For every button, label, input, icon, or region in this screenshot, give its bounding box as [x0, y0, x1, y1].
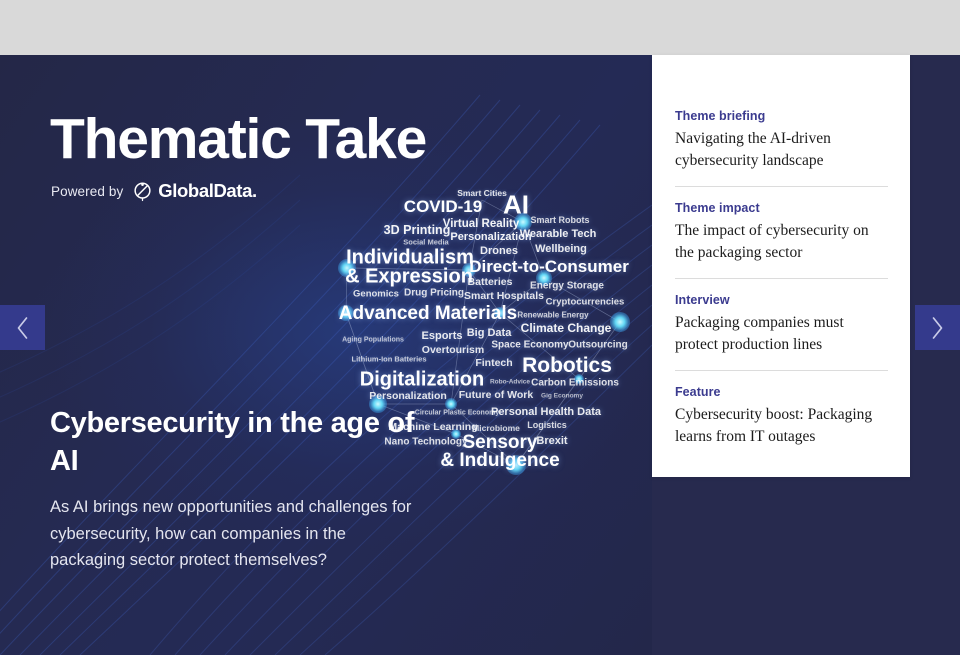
- powered-by-row: Powered by GlobalData.: [51, 180, 257, 202]
- article-entry[interactable]: Theme impactThe impact of cybersecurity …: [675, 186, 888, 278]
- word-cloud-term: Batteries: [468, 276, 513, 288]
- article-title-link[interactable]: The impact of cybersecurity on the packa…: [675, 220, 888, 265]
- word-cloud-term: Aging Populations: [342, 337, 404, 344]
- globaldata-circle-logo-icon: [132, 181, 153, 202]
- word-cloud-term: Personalization: [369, 390, 447, 402]
- word-cloud-term: Genomics: [353, 289, 399, 300]
- top-margin-strip: [0, 0, 960, 55]
- word-cloud-term: COVID-19: [404, 197, 482, 217]
- word-cloud-term: Social Media: [403, 238, 448, 247]
- powered-by-label: Powered by: [51, 184, 123, 199]
- article-list: Theme briefingNavigating the AI-driven c…: [652, 55, 910, 462]
- word-cloud-term: Wellbeing: [535, 243, 587, 255]
- word-cloud-term: Drones: [480, 245, 518, 257]
- word-cloud-term: Big Data: [467, 327, 512, 339]
- word-cloud-term: Fintech: [475, 357, 512, 369]
- word-cloud-term: Drug Pricing: [404, 288, 464, 299]
- word-cloud-term: Gig Economy: [541, 393, 583, 400]
- word-cloud-term: Robotics: [522, 354, 612, 378]
- article-title-link[interactable]: Navigating the AI-driven cybersecurity l…: [675, 128, 888, 173]
- word-cloud-term: Cryptocurrencies: [546, 297, 625, 308]
- article-list-card: Theme briefingNavigating the AI-driven c…: [652, 55, 910, 477]
- word-cloud-term: Carbon Emissions: [531, 378, 619, 389]
- globaldata-wordmark: GlobalData.: [158, 180, 256, 202]
- article-category-label: Interview: [675, 293, 888, 307]
- word-cloud-term: Virtual Reality: [443, 218, 520, 230]
- slide-stage: Thematic Take Powered by GlobalData.: [0, 0, 960, 655]
- word-cloud-term: Smart Robots: [530, 215, 589, 225]
- word-cloud-term: Personal Health Data: [491, 406, 601, 418]
- word-cloud-term: Robo-Advice: [490, 379, 530, 386]
- word-cloud-node: [610, 312, 630, 332]
- chevron-left-icon: [14, 315, 31, 341]
- word-cloud-term: Wearable Tech: [520, 228, 597, 240]
- article-entry[interactable]: Theme briefingNavigating the AI-driven c…: [675, 109, 888, 186]
- word-cloud-term: Renewable Energy: [517, 311, 588, 320]
- chevron-right-icon: [929, 315, 946, 341]
- article-category-label: Feature: [675, 385, 888, 399]
- article-entry[interactable]: InterviewPackaging companies must protec…: [675, 278, 888, 370]
- next-slide-button[interactable]: [915, 305, 960, 350]
- hero-headline: Cybersecurity in the age of AI: [50, 404, 430, 481]
- article-title-link[interactable]: Cybersecurity boost: Packaging learns fr…: [675, 404, 888, 449]
- globaldata-logo: GlobalData.: [132, 180, 256, 202]
- word-cloud-term: Advanced Materials: [339, 303, 517, 325]
- article-category-label: Theme impact: [675, 201, 888, 215]
- article-category-label: Theme briefing: [675, 109, 888, 123]
- word-cloud-term: Brexit: [536, 435, 567, 447]
- word-cloud-term: Future of Work: [459, 389, 533, 401]
- word-cloud-term: Lithium-Ion Batteries: [351, 355, 426, 364]
- word-cloud-term: Direct-to-Consumer: [469, 257, 629, 277]
- word-cloud-term: Overtourism: [422, 344, 484, 356]
- article-title-link[interactable]: Packaging companies must protect product…: [675, 312, 888, 357]
- word-cloud-term: AI: [503, 190, 529, 221]
- article-entry[interactable]: FeatureCybersecurity boost: Packaging le…: [675, 370, 888, 462]
- word-cloud-term: & Expression: [345, 266, 473, 289]
- word-cloud-term: Climate Change: [521, 321, 612, 335]
- word-cloud-term: Outsourcing: [568, 340, 627, 351]
- page-title: Thematic Take: [50, 110, 426, 170]
- word-cloud-term: Esports: [422, 330, 463, 342]
- word-cloud-term: & Indulgence: [440, 450, 559, 472]
- word-cloud-term: Logistics: [527, 420, 567, 430]
- word-cloud-term: Space Economy: [491, 340, 568, 351]
- word-cloud-term: Smart Hospitals: [464, 290, 544, 302]
- previous-slide-button[interactable]: [0, 305, 45, 350]
- hero-subheadline: As AI brings new opportunities and chall…: [50, 494, 415, 574]
- word-cloud-term: 3D Printing: [384, 223, 451, 237]
